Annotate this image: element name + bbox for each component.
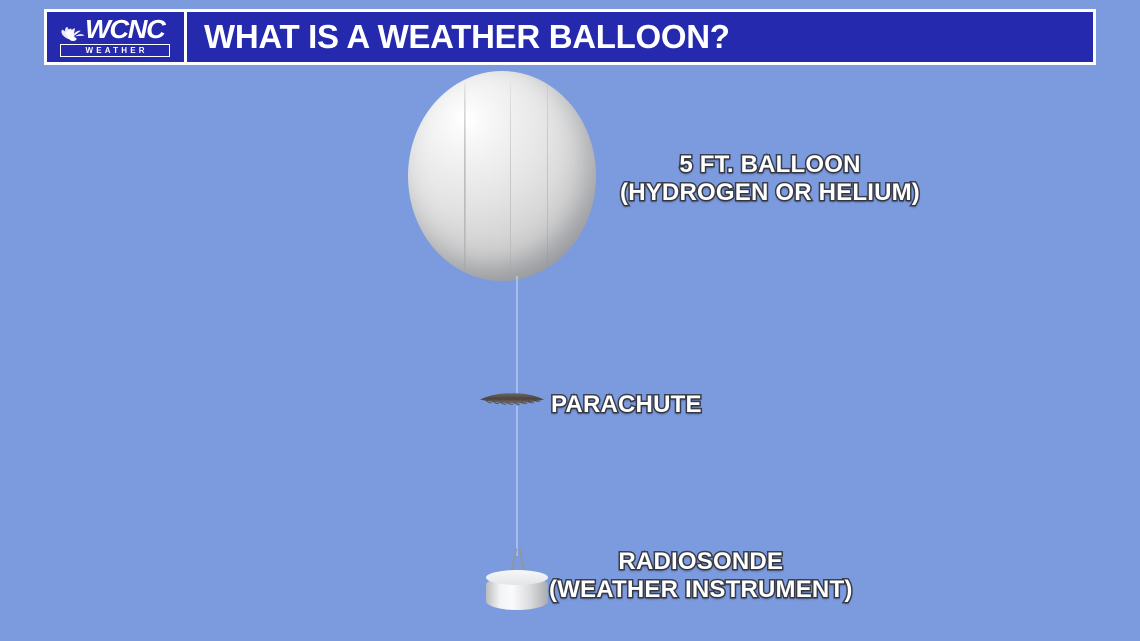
- header-bar: WCNC WEATHER WHAT IS A WEATHER BALLOON?: [44, 9, 1096, 65]
- station-logo: WCNC WEATHER: [47, 12, 187, 62]
- balloon-seam-icon: [464, 82, 466, 271]
- tether-line-upper: [516, 276, 518, 400]
- radiosonde-top-face: [486, 570, 548, 585]
- logo-weather-label: WEATHER: [82, 46, 147, 55]
- nbc-peacock-icon: [58, 19, 88, 41]
- radiosonde-instrument-cylinder: [486, 548, 548, 610]
- weather-graphic: WCNC WEATHER WHAT IS A WEATHER BALLOON?: [0, 0, 1140, 641]
- balloon-label-line2: (HYDROGEN OR HELIUM): [620, 179, 920, 207]
- parachute-label: PARACHUTE: [551, 391, 702, 419]
- logo-weather-box: WEATHER: [60, 44, 170, 57]
- tether-line-lower: [516, 406, 518, 556]
- wcnc-wordmark: WCNC: [85, 15, 164, 43]
- page-title: WHAT IS A WEATHER BALLOON?: [187, 12, 1093, 62]
- radiosonde-label: RADIOSONDE (WEATHER INSTRUMENT): [549, 548, 853, 604]
- radiosonde-label-line2: (WEATHER INSTRUMENT): [549, 576, 853, 604]
- balloon-seam-icon: [510, 82, 511, 271]
- weather-balloon-sphere: [408, 71, 596, 281]
- parachute-canopy: [479, 393, 545, 408]
- radiosonde-label-line1: RADIOSONDE: [549, 548, 853, 576]
- balloon-label-line1: 5 FT. BALLOON: [620, 151, 920, 179]
- balloon-label: 5 FT. BALLOON (HYDROGEN OR HELIUM): [620, 151, 920, 207]
- balloon-seam-icon: [547, 82, 548, 271]
- parachute-label-line1: PARACHUTE: [551, 391, 702, 419]
